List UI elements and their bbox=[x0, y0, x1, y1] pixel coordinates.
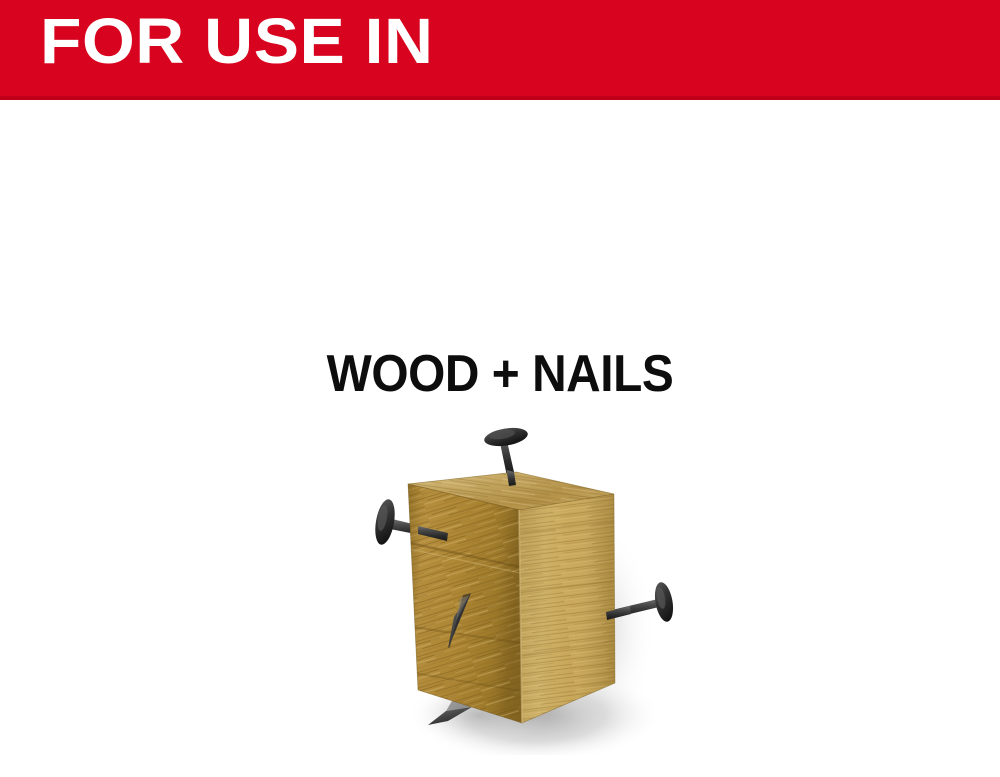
nail-top-icon bbox=[483, 425, 529, 474]
page-title: WOOD + NAILS bbox=[40, 346, 960, 402]
banner: FOR USE IN bbox=[0, 0, 1000, 100]
wood-block-illustration bbox=[330, 415, 690, 755]
banner-title: FOR USE IN bbox=[40, 9, 434, 73]
